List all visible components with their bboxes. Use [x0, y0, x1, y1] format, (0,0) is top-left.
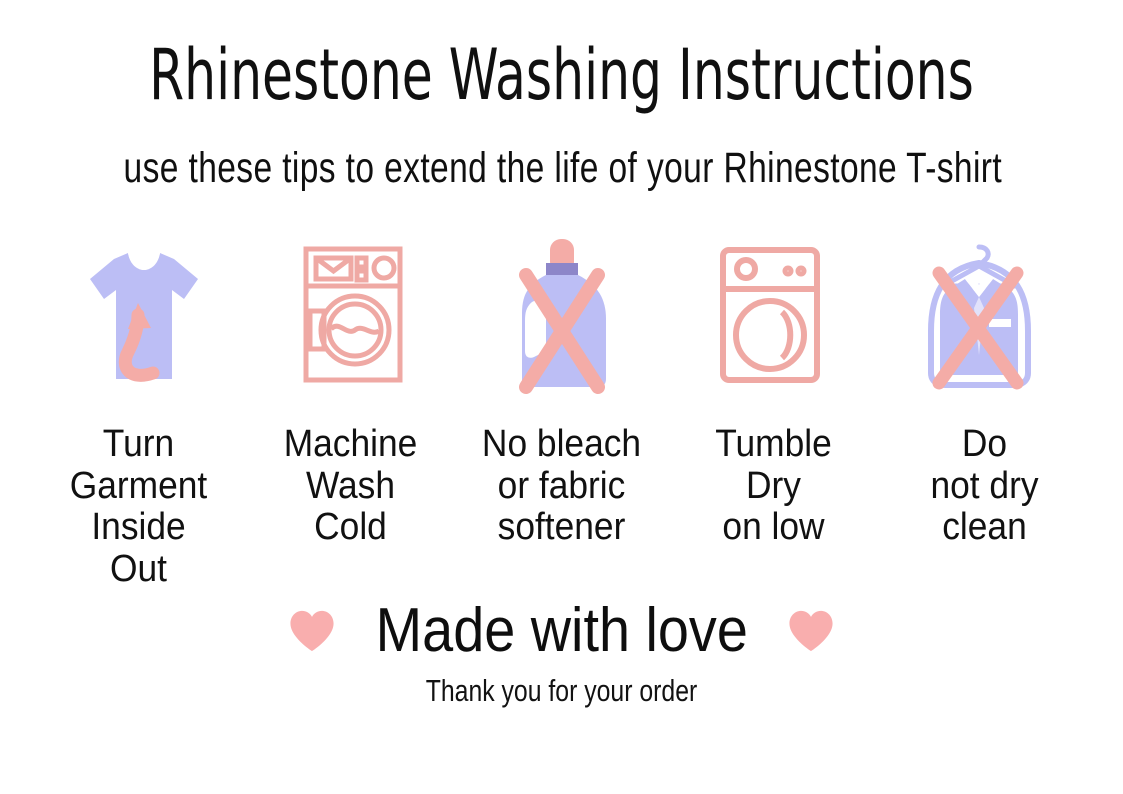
made-with-love-text: Made with love — [375, 596, 747, 666]
instruction-icon-row — [44, 232, 1079, 397]
page-subtitle: use these tips to extend the life of you… — [124, 143, 1000, 193]
no-dry-clean-icon — [917, 235, 1042, 395]
heart-icon-right — [788, 609, 834, 653]
instruction-icon-cell-1 — [44, 232, 244, 397]
tshirt-inside-out-icon — [84, 235, 204, 395]
instruction-icon-cell-2 — [253, 232, 453, 397]
instruction-label-2: Machine Wash Cold — [255, 424, 446, 549]
made-with-love-line: Made with love — [0, 592, 1123, 670]
instruction-label-1: Turn Garment Inside Out — [43, 424, 234, 590]
instruction-label-4: Tumble Dry on low — [678, 424, 869, 549]
heart-icon-left — [289, 609, 335, 653]
no-bleach-icon — [502, 235, 622, 395]
thank-you-text: Thank you for your order — [112, 672, 1010, 710]
page-title: Rhinestone Washing Instructions — [112, 36, 1010, 114]
instruction-icon-cell-4 — [670, 232, 870, 397]
instruction-label-row: Turn Garment Inside Out Machine Wash Col… — [36, 424, 1087, 594]
instruction-label-5: Do not dry clean — [889, 424, 1080, 549]
instruction-label-3: No bleach or fabric softener — [466, 424, 657, 549]
instruction-icon-cell-5 — [879, 232, 1079, 397]
instruction-icon-cell-3 — [462, 232, 662, 397]
tumble-dryer-icon — [711, 240, 829, 390]
washing-machine-icon — [293, 237, 413, 392]
washing-instructions-card: Rhinestone Washing Instructions use thes… — [0, 0, 1123, 794]
